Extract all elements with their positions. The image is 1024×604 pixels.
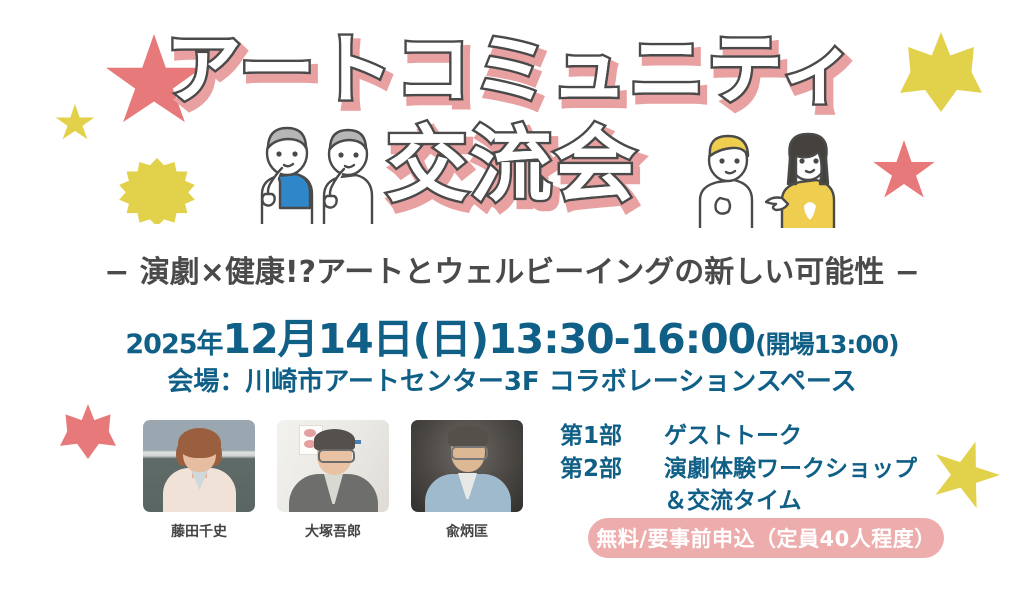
program-part-text: ゲストトーク — [664, 420, 802, 453]
speaker-list: 藤田千史 大塚吾郎 兪炳匡 — [143, 420, 523, 541]
program-part-label: 第2部 — [560, 453, 664, 486]
program-part-text: ＆交流タイム — [664, 485, 802, 518]
program-part-text: 演劇体験ワークショップ — [664, 453, 917, 486]
title-line-1-fill: アートコミュニティ — [166, 32, 859, 108]
date-year: 2025年 — [125, 329, 222, 360]
date-doors-open: (開場13:00) — [755, 330, 898, 359]
poster-date-line: 2025年12月14日(日)13:30-16:00(開場13:00) — [0, 305, 1024, 365]
poster-venue: 会場：川崎市アートセンター3F コラボレーションスペース — [0, 361, 1024, 398]
program-row: 第1部 ゲストトーク — [560, 420, 917, 453]
speaker-name: 兪炳匡 — [411, 521, 523, 541]
speaker-photo — [143, 420, 255, 512]
speaker-item: 藤田千史 — [143, 420, 255, 541]
program-part-label: 第1部 — [560, 420, 664, 453]
title-line-2: 交流会 交流会 交流会 — [386, 125, 638, 207]
speaker-item: 兪炳匡 — [411, 420, 523, 541]
program-list: 第1部 ゲストトーク 第2部 演劇体験ワークショップ ＆交流タイム — [560, 420, 917, 518]
poster-subtitle: − 演劇×健康!?アートとウェルビーイングの新しい可能性 − — [0, 247, 1024, 291]
speaker-item: 大塚吾郎 — [277, 420, 389, 541]
speaker-photo — [277, 420, 389, 512]
speaker-name: 大塚吾郎 — [277, 521, 389, 541]
program-row: 第2部 演劇体験ワークショップ — [560, 453, 917, 486]
speaker-photo — [411, 420, 523, 512]
registration-badge: 無料/要事前申込（定員40人程度） — [588, 518, 944, 558]
date-main: 12月14日(日)13:30-16:00 — [223, 315, 756, 363]
decor-star-salmon-bottom-left — [60, 404, 116, 459]
poster-title-group-2: 交流会 交流会 交流会 — [0, 125, 1024, 207]
title-line-2-fill: 交流会 — [386, 125, 638, 207]
decor-star-yellow-bottom-right — [921, 431, 1009, 517]
speaker-name: 藤田千史 — [143, 521, 255, 541]
title-line-1: アートコミュニティ アートコミュニティ アートコミュニティ — [166, 32, 859, 108]
event-poster: アートコミュニティ アートコミュニティ アートコミュニティ 交流会 交流会 交流… — [0, 0, 1024, 604]
program-part-label — [560, 485, 664, 518]
program-row: ＆交流タイム — [560, 485, 917, 518]
poster-title-group: アートコミュニティ アートコミュニティ アートコミュニティ — [0, 32, 1024, 108]
